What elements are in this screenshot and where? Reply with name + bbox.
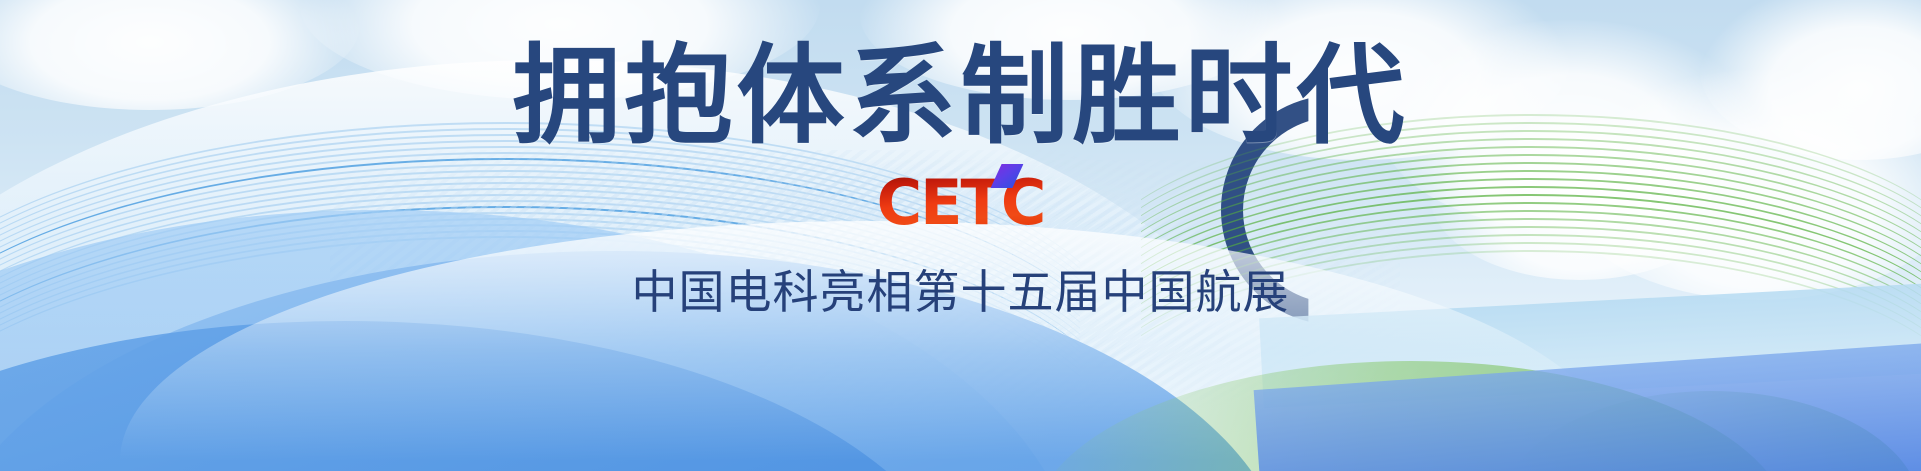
cetc-wordmark: CETC <box>877 172 1045 234</box>
cetc-logo: CETC <box>877 176 1045 234</box>
cetc-airshow-banner: 拥抱体系制胜时代 CETC 中国电科亮相第十五届中国航展 <box>0 0 1921 471</box>
page-title: 拥抱体系制胜时代 <box>512 42 1408 152</box>
banner-content: 拥抱体系制胜时代 CETC 中国电科亮相第十五届中国航展 <box>0 0 1921 471</box>
banner-subtitle: 中国电科亮相第十五届中国航展 <box>632 256 1290 322</box>
